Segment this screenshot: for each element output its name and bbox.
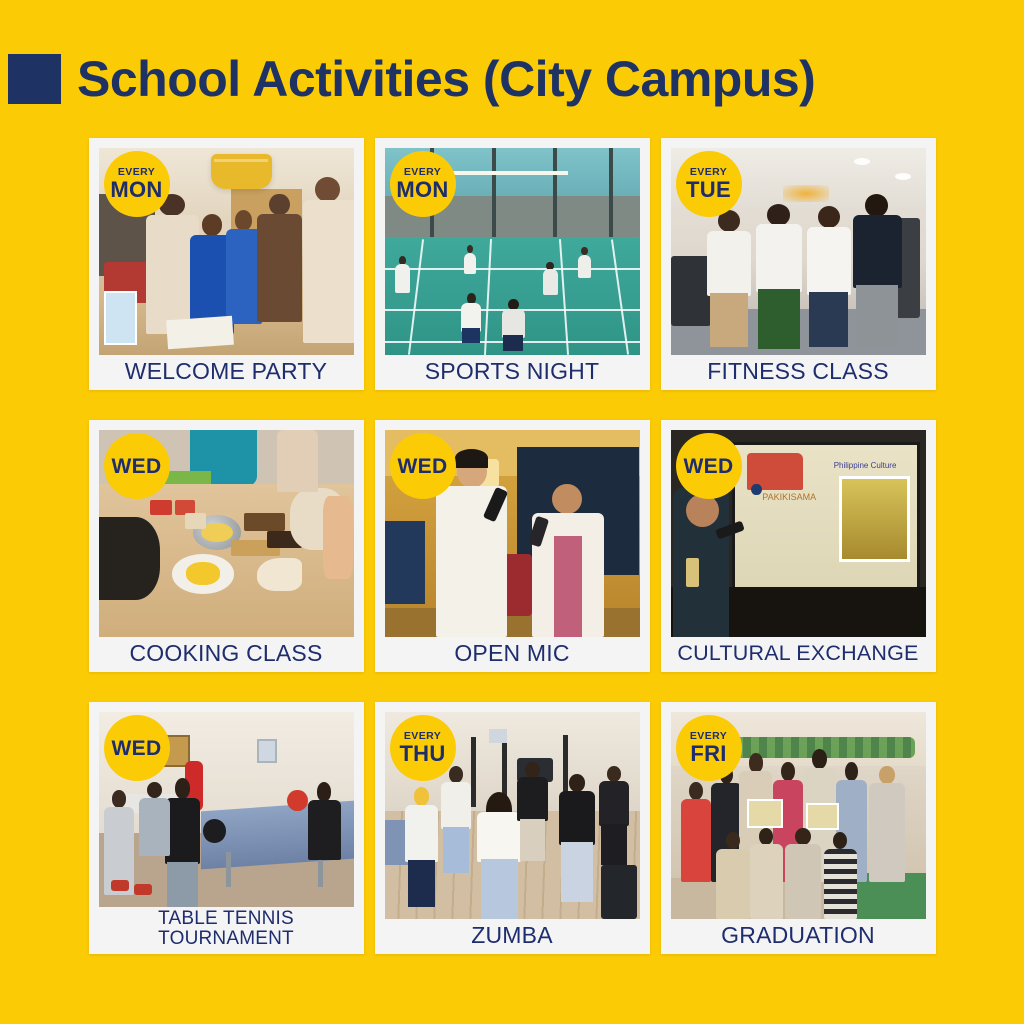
page-header: School Activities (City Campus): [0, 0, 1024, 118]
badge-day-label: THU: [399, 743, 445, 765]
day-badge-graduation: EVERY FRI: [676, 715, 742, 781]
badge-day-label: FRI: [690, 743, 726, 765]
activity-caption-zumba: ZUMBA: [385, 919, 640, 954]
day-badge-cultural-exchange: WED: [676, 433, 742, 499]
activity-photo-open-mic: WED: [385, 430, 640, 637]
activity-caption-sports-night: SPORTS NIGHT: [385, 355, 640, 390]
activity-card-welcome-party[interactable]: EVERY MON WELCOME PARTY: [89, 138, 364, 390]
badge-day-label: MON: [110, 179, 162, 201]
badge-day-label: WED: [684, 456, 734, 477]
activity-photo-welcome-party: EVERY MON: [99, 148, 354, 355]
activity-card-graduation[interactable]: EVERY FRI GRADUATION: [661, 702, 936, 954]
activity-caption-cooking-class: COOKING CLASS: [99, 637, 354, 672]
activity-photo-graduation: EVERY FRI: [671, 712, 926, 919]
activity-card-cooking-class[interactable]: WED COOKING CLASS: [89, 420, 364, 672]
activity-card-cultural-exchange[interactable]: Philippine Culture PAKIKISAMA WED CULTUR…: [661, 420, 936, 672]
activity-photo-zumba: EVERY THU: [385, 712, 640, 919]
activity-photo-sports-night: EVERY MON: [385, 148, 640, 355]
activity-card-zumba[interactable]: EVERY THU ZUMBA: [375, 702, 650, 954]
day-badge-cooking-class: WED: [104, 433, 170, 499]
activity-card-table-tennis-tournament[interactable]: WED TABLE TENNIS TOURNAMENT: [89, 702, 364, 954]
activity-caption-welcome-party: WELCOME PARTY: [99, 355, 354, 390]
day-badge-table-tennis-tournament: WED: [104, 715, 170, 781]
day-badge-open-mic: WED: [390, 433, 456, 499]
day-badge-zumba: EVERY THU: [390, 715, 456, 781]
square-bullet-icon: [8, 54, 61, 104]
activity-photo-fitness-class: EVERY TUE: [671, 148, 926, 355]
activity-card-open-mic[interactable]: WED OPEN MIC: [375, 420, 650, 672]
caption-line-1: TABLE TENNIS: [158, 909, 294, 930]
activity-card-fitness-class[interactable]: EVERY TUE FITNESS CLASS: [661, 138, 936, 390]
day-badge-welcome-party: EVERY MON: [104, 151, 170, 217]
slide-word-text: PAKIKISAMA: [762, 492, 816, 502]
badge-day-label: TUE: [686, 179, 731, 201]
day-badge-fitness-class: EVERY TUE: [676, 151, 742, 217]
badge-day-label: MON: [396, 179, 448, 201]
day-badge-sports-night: EVERY MON: [390, 151, 456, 217]
activities-grid: EVERY MON WELCOME PARTY: [0, 138, 1024, 954]
page-title: School Activities (City Campus): [77, 54, 815, 104]
activity-caption-open-mic: OPEN MIC: [385, 637, 640, 672]
badge-day-label: WED: [112, 456, 162, 477]
activity-caption-fitness-class: FITNESS CLASS: [671, 355, 926, 390]
slide-title-text: Philippine Culture: [834, 461, 897, 470]
activity-card-sports-night[interactable]: EVERY MON SPORTS NIGHT: [375, 138, 650, 390]
badge-day-label: WED: [398, 456, 448, 477]
activity-photo-cultural-exchange: Philippine Culture PAKIKISAMA WED: [671, 430, 926, 637]
caption-line-2: TOURNAMENT: [158, 929, 294, 950]
badge-day-label: WED: [112, 738, 162, 759]
activity-photo-table-tennis-tournament: WED: [99, 712, 354, 907]
activity-caption-cultural-exchange: CULTURAL EXCHANGE: [671, 637, 926, 672]
activity-caption-graduation: GRADUATION: [671, 919, 926, 954]
activity-caption-table-tennis-tournament: TABLE TENNIS TOURNAMENT: [99, 907, 354, 954]
activity-photo-cooking-class: WED: [99, 430, 354, 637]
